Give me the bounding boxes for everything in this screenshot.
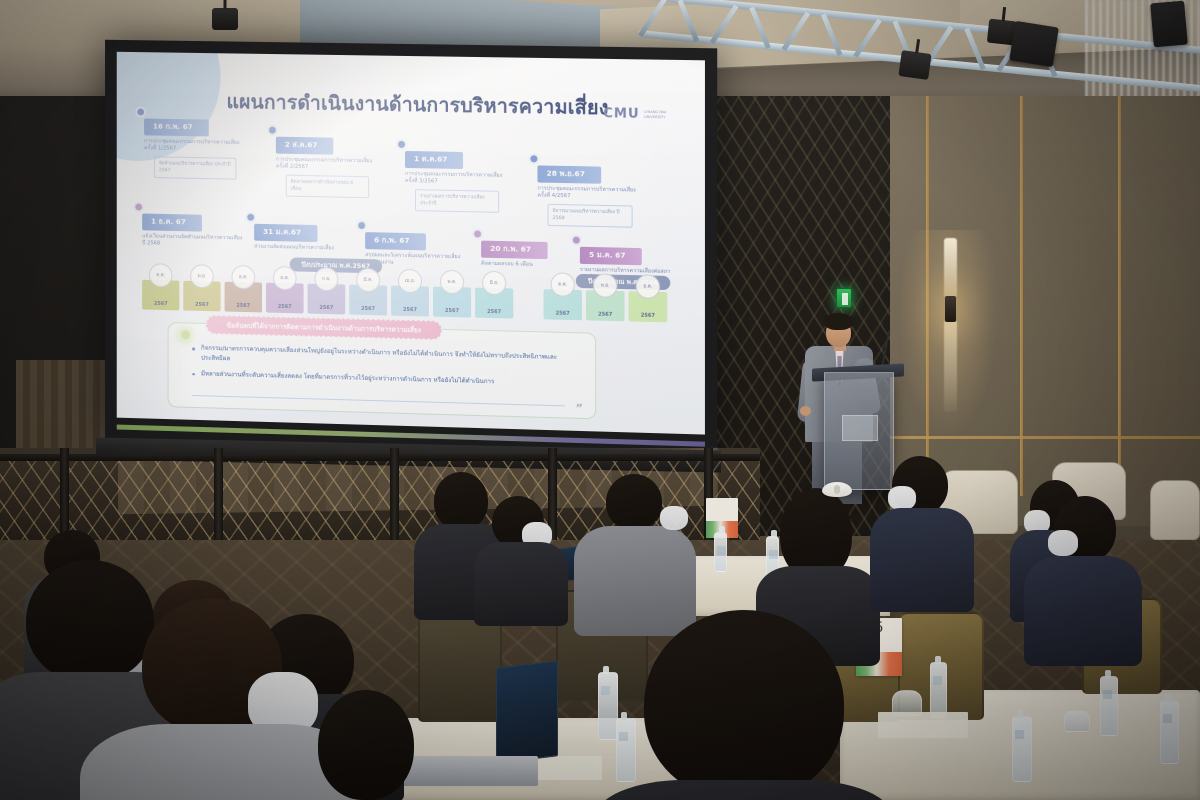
person-head (434, 472, 488, 530)
timeline-pin-icon (528, 153, 539, 164)
timeline-description: การประชุมคณะกรรมการบริหารความเสี่ยง ครั้… (405, 170, 509, 188)
timeline-subnote: พิจารณาแผนบริหารความเสี่ยง ปี 2568 (548, 204, 633, 228)
timeline-date-badge: 31 ม.ค.67 (254, 223, 317, 241)
budget-month-year: 2567 (308, 305, 346, 312)
paper-document (878, 712, 968, 738)
ceiling-speaker (1009, 21, 1059, 67)
wall-sconce-crystal (944, 238, 957, 298)
budget-month: เม.ย. 2567 (391, 286, 429, 317)
budget-month: มิ.ย. 2567 (475, 288, 513, 319)
person-torso (474, 542, 568, 626)
banquet-chair (418, 612, 502, 722)
water-bottle (930, 662, 947, 718)
timeline-pin-icon (396, 139, 407, 150)
timeline-item: 1 ต.ค.67 การประชุมคณะกรรมการบริหารความเส… (405, 146, 509, 214)
timeline-description: การประชุมคณะกรรมการบริหารความเสี่ยง ครั้… (537, 185, 642, 203)
water-bottle (616, 718, 636, 782)
water-bottle (598, 672, 618, 740)
timeline-date-badge: 20 ก.พ. 67 (481, 240, 547, 259)
findings-rule (192, 395, 565, 406)
timeline-date-badge: 6 ก.พ. 67 (365, 232, 425, 250)
timeline-pin-icon (472, 228, 483, 239)
budget-month-circle: ธ.ค. (231, 265, 255, 289)
budget-month: ต.ค. 2567 (142, 280, 179, 311)
budget-month-circle: ม.ค. (273, 266, 297, 290)
budget-month-year: 2567 (586, 311, 625, 318)
podium (824, 372, 894, 490)
timeline-subnote: จัดทำแผนบริหารความเสี่ยง ประจำปี 2567 (154, 157, 237, 180)
timeline-pin-icon (571, 234, 582, 245)
person-head (26, 560, 154, 682)
timeline-description: แจ้งเวียนส่วนงานจัดทำแผนบริหารความเสี่ยง… (142, 233, 244, 251)
budget-month-year: 2567 (433, 308, 471, 315)
laptop-keyboard (398, 756, 538, 786)
speaker-hand (800, 406, 811, 416)
budget-month: ต.ค. 2567 (544, 289, 582, 320)
timeline-item: 1 ธ.ค. 67 แจ้งเวียนส่วนงานจัดทำแผนบริหาร… (142, 209, 244, 251)
person-torso (1024, 556, 1142, 666)
budget-month-circle: ธ.ค. (636, 274, 660, 299)
water-bottle (1012, 716, 1032, 782)
budget-month-year: 2567 (349, 306, 387, 313)
findings-header: ข้อค้นพบที่ได้จากการติดตามการดำเนินงานด้… (206, 315, 442, 340)
podium-plaque (842, 415, 878, 441)
person-torso (870, 508, 974, 612)
budget-month: พ.ย. 2567 (183, 281, 220, 312)
timeline-date-badge: 5 ม.ค. 67 (580, 246, 642, 264)
timeline-description: การประชุมคณะกรรมการบริหารความเสี่ยง ครั้… (276, 156, 379, 174)
timeline-date-badge: 1 ธ.ค. 67 (142, 213, 201, 231)
water-bottle (1100, 676, 1118, 736)
face-mask (888, 486, 916, 510)
timeline-item: 16 ก.พ. 67 การประชุมคณะกรรมการบริหารความ… (144, 114, 246, 181)
water-bottle (714, 532, 727, 572)
timeline-subnote: รายงานผลการบริหารความเสี่ยงประจำปี (415, 190, 499, 214)
quote-mark-icon: ” (576, 402, 583, 415)
person-head (644, 610, 844, 800)
ceiling-speaker (1150, 1, 1188, 48)
budget-month-circle: เม.ย. (398, 269, 422, 294)
budget-month-circle: พ.ย. (593, 273, 617, 298)
timeline-item: 28 พ.ย.67 การประชุมคณะกรรมการบริหารความเ… (537, 160, 642, 228)
slide-content: แผนการดำเนินงานด้านการบริหารความเสี่ยง C… (117, 52, 705, 435)
speaker-hair (824, 313, 853, 330)
budget-month: ธ.ค. 2567 (629, 291, 668, 322)
budget-month: พ.ค. 2567 (433, 287, 471, 318)
lounge-chair (1150, 480, 1200, 540)
timeline-item: 2 ส.ค.67 การประชุมคณะกรรมการบริหารความเส… (276, 132, 379, 199)
water-bottle (1160, 700, 1179, 764)
budget-month: มี.ค. 2567 (349, 285, 387, 316)
person-head (318, 690, 414, 800)
budget-month-year: 2567 (266, 304, 304, 311)
budget-month: พ.ย. 2567 (586, 290, 625, 321)
budget-month-circle: มี.ค. (356, 268, 380, 293)
stage-light-icon (212, 8, 238, 30)
face-mask (660, 506, 688, 530)
hair-bow (822, 482, 852, 497)
projected-slide: แผนการดำเนินงานด้านการบริหารความเสี่ยง C… (117, 52, 705, 435)
findings-box: ข้อค้นพบที่ได้จากการติดตามการดำเนินงานด้… (168, 322, 596, 419)
timeline-description: การประชุมคณะกรรมการบริหารความเสี่ยง ครั้… (144, 138, 246, 156)
budget-month: ธ.ค. 2567 (225, 282, 262, 313)
budget-month-circle: พ.ย. (190, 264, 214, 288)
timeline-pin-icon (133, 201, 144, 212)
timeline-date-badge: 2 ส.ค.67 (276, 136, 334, 154)
budget-month-circle: พ.ค. (440, 270, 464, 295)
budget-month-year: 2567 (544, 310, 582, 317)
slide-title: แผนการดำเนินงานด้านการบริหารความเสี่ยง (227, 86, 647, 124)
timeline-pin-icon (245, 212, 256, 223)
budget-month-year: 2567 (142, 301, 179, 308)
timeline-pin-icon (135, 106, 146, 117)
budget-month: ก.พ. 2567 (308, 284, 346, 315)
cmu-logo-subtext: CHIANG MAI UNIVERSITY (644, 110, 679, 120)
person-torso (574, 526, 696, 636)
budget-timeline: ปีงบประมาณ พ.ศ.2567 ปีงบประมาณ พ.ศ.2568 … (142, 256, 681, 323)
timeline-item: 31 ม.ค.67 ส่วนงานจัดส่งแผนบริหารความเสี่… (254, 219, 357, 254)
budget-month: ม.ค. 2567 (266, 283, 304, 314)
timeline-date-badge: 28 พ.ย.67 (537, 165, 601, 183)
budget-month-year: 2567 (183, 302, 220, 309)
findings-list: กิจกรรม/มาตรการควบคุมความเสี่ยงส่วนใหญ่ย… (192, 343, 581, 395)
budget-month-circle: ต.ค. (149, 263, 173, 287)
timeline-date-badge: 1 ต.ค.67 (405, 150, 463, 168)
cmu-logo: CMU CHIANG MAI UNIVERSITY (603, 106, 678, 122)
face-mask (1048, 530, 1078, 556)
conference-room-photo: แผนการดำเนินงานด้านการบริหารความเสี่ยง C… (0, 0, 1200, 800)
budget-month-year: 2567 (629, 312, 668, 319)
timeline-date-badge: 16 ก.พ. 67 (144, 118, 208, 136)
drinking-glass (1064, 710, 1090, 732)
timeline-subnote: ติดตามผลการดำเนินงานรอบ 6 เดือน (286, 175, 369, 199)
timeline-pin-icon (267, 125, 278, 136)
budget-month-year: 2567 (391, 307, 429, 314)
wall-sconce (945, 296, 956, 322)
budget-month-circle: มิ.ย. (482, 271, 506, 296)
laptop-screen (496, 660, 558, 764)
budget-month-circle: ต.ค. (551, 272, 575, 297)
timeline-description: ส่วนงานจัดส่งแผนบริหารความเสี่ยง (254, 243, 357, 253)
person-head (606, 474, 662, 530)
exit-sign-icon (836, 288, 852, 308)
wall-sconce-crystal-lower (944, 320, 957, 412)
budget-month-circle: ก.พ. (314, 267, 338, 291)
projection-screen: แผนการดำเนินงานด้านการบริหารความเสี่ยง C… (105, 40, 717, 457)
cmu-logo-mark: CMU (603, 106, 640, 122)
timeline-pin-icon (356, 220, 367, 231)
budget-month-year: 2567 (475, 309, 513, 316)
budget-month-year: 2567 (225, 303, 262, 310)
stage-light-icon (898, 50, 931, 80)
